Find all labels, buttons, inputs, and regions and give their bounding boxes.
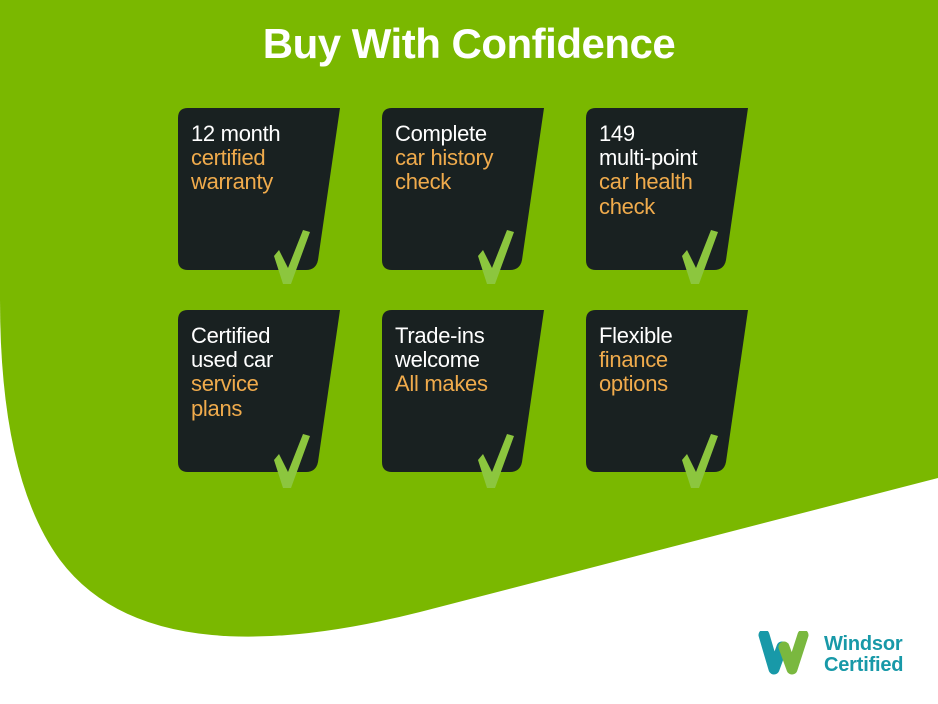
benefit-card[interactable]: 149 multi-point car health check: [586, 108, 734, 270]
benefit-card-text: Flexible finance options: [586, 310, 739, 397]
page-title: Buy With Confidence: [0, 20, 938, 68]
benefit-card[interactable]: Flexible finance options: [586, 310, 734, 472]
check-icon: [270, 432, 312, 490]
benefit-line: Trade-ins: [395, 324, 535, 348]
logo-line-2: Certified: [824, 655, 903, 676]
benefit-line: All makes: [395, 372, 535, 396]
benefit-line: certified: [191, 146, 331, 170]
check-icon: [474, 432, 516, 490]
benefit-card-text: Certified used car service plans: [178, 310, 331, 421]
benefit-line: multi-point: [599, 146, 739, 170]
promo-banner: Buy With Confidence 12 month certified w…: [0, 0, 938, 704]
logo-wordmark: Windsor Certified: [824, 634, 903, 676]
check-icon: [678, 228, 720, 286]
benefit-line: car history: [395, 146, 535, 170]
benefit-line: Complete: [395, 122, 535, 146]
benefit-line: check: [599, 195, 739, 219]
benefit-line: 12 month: [191, 122, 331, 146]
benefit-card[interactable]: Trade-ins welcome All makes: [382, 310, 530, 472]
benefit-line: welcome: [395, 348, 535, 372]
benefit-line: check: [395, 170, 535, 194]
benefit-line: used car: [191, 348, 331, 372]
benefit-line: service: [191, 372, 331, 396]
benefit-card[interactable]: 12 month certified warranty: [178, 108, 326, 270]
benefit-card-text: Trade-ins welcome All makes: [382, 310, 535, 397]
benefit-card[interactable]: Complete car history check: [382, 108, 530, 270]
benefit-card[interactable]: Certified used car service plans: [178, 310, 326, 472]
benefits-grid: 12 month certified warranty Complete car…: [178, 108, 758, 512]
benefit-line: car health: [599, 170, 739, 194]
benefit-line: finance: [599, 348, 739, 372]
benefit-card-text: 12 month certified warranty: [178, 108, 331, 195]
benefit-line: plans: [191, 397, 331, 421]
windsor-certified-logo[interactable]: Windsor Certified: [758, 624, 928, 686]
benefits-row-top: 12 month certified warranty Complete car…: [178, 108, 758, 270]
windsor-w-icon: [758, 631, 816, 679]
benefit-card-text: Complete car history check: [382, 108, 535, 195]
benefit-line: options: [599, 372, 739, 396]
benefit-line: warranty: [191, 170, 331, 194]
benefit-line: Certified: [191, 324, 331, 348]
benefit-line: Flexible: [599, 324, 739, 348]
check-icon: [474, 228, 516, 286]
check-icon: [270, 228, 312, 286]
check-icon: [678, 432, 720, 490]
logo-line-1: Windsor: [824, 634, 903, 655]
benefit-card-text: 149 multi-point car health check: [586, 108, 739, 219]
benefit-line: 149: [599, 122, 739, 146]
benefits-row-bottom: Certified used car service plans Trade-i…: [178, 310, 758, 472]
